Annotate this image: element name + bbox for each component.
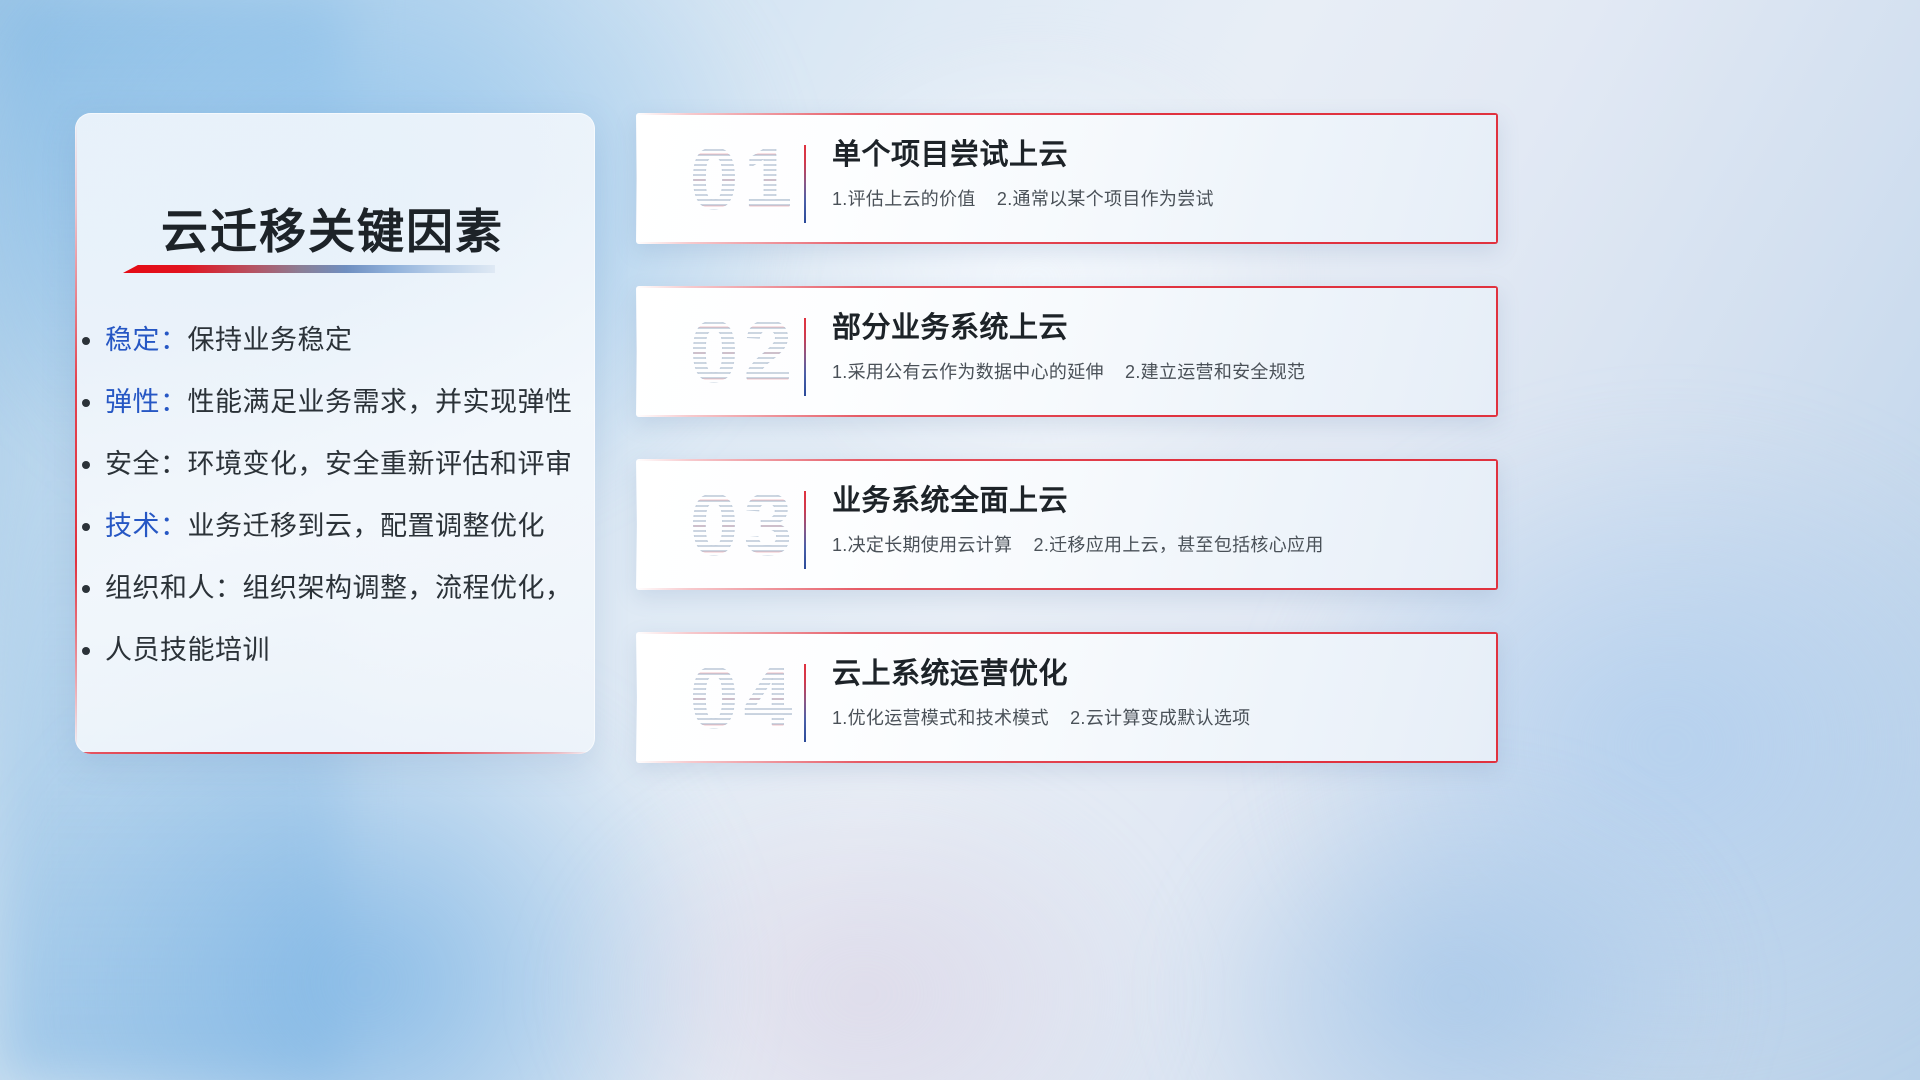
card-description: 1.优化运营模式和技术模式 2.云计算变成默认选项 (832, 705, 1470, 731)
factor-label: 技术： (105, 511, 188, 541)
card-left-edge (636, 286, 637, 417)
card-right-accent-border (1496, 459, 1498, 590)
card-left-edge (636, 632, 637, 763)
card-title: 业务系统全面上云 (832, 481, 1470, 521)
card-bottom-accent-border (636, 761, 1498, 763)
card-bottom-accent-border (636, 242, 1498, 244)
page-title: 云迁移关键因素 (161, 193, 504, 262)
card-divider-line (804, 145, 806, 223)
factor-label: 组织和人： (105, 573, 243, 603)
card-step-number-tint: 02 (654, 292, 834, 412)
card-divider-line (804, 491, 806, 569)
factor-label: 弹性： (105, 387, 188, 417)
card-top-accent-border (636, 632, 1498, 634)
factor-row: 弹性：性能满足业务需求，并实现弹性 (105, 371, 575, 433)
factor-description: 人员技能培训 (105, 635, 270, 665)
card-bottom-accent-border (636, 588, 1498, 590)
card-divider-line (804, 664, 806, 742)
card-title: 云上系统运营优化 (832, 654, 1470, 694)
card-body: 单个项目尝试上云1.评估上云的价值 2.通常以某个项目作为尝试 (832, 135, 1470, 212)
stage-card[interactable]: 0303业务系统全面上云1.决定长期使用云计算 2.迁移应用上云，甚至包括核心应… (636, 459, 1498, 590)
factor-row: 人员技能培训 (105, 619, 575, 681)
card-body: 部分业务系统上云1.采用公有云作为数据中心的延伸 2.建立运营和安全规范 (832, 308, 1470, 385)
factor-description: 业务迁移到云，配置调整优化 (188, 511, 546, 541)
card-body: 业务系统全面上云1.决定长期使用云计算 2.迁移应用上云，甚至包括核心应用 (832, 481, 1470, 558)
panel-bottom-accent-border (75, 752, 595, 754)
factor-row: 组织和人：组织架构调整，流程优化， (105, 557, 575, 619)
stage-card[interactable]: 0404云上系统运营优化1.优化运营模式和技术模式 2.云计算变成默认选项 (636, 632, 1498, 763)
factor-description: 环境变化，安全重新评估和评审 (188, 449, 573, 479)
stage-cards-list: 0101单个项目尝试上云1.评估上云的价值 2.通常以某个项目作为尝试0202部… (636, 113, 1498, 805)
card-step-number-tint: 01 (654, 119, 834, 239)
stage-card[interactable]: 0101单个项目尝试上云1.评估上云的价值 2.通常以某个项目作为尝试 (636, 113, 1498, 244)
card-left-edge (636, 459, 637, 590)
card-step-number-tint: 04 (654, 638, 834, 758)
factor-label: 稳定： (105, 325, 188, 355)
card-bottom-accent-border (636, 415, 1498, 417)
factor-row: 技术：业务迁移到云，配置调整优化 (105, 495, 575, 557)
card-step-number-tint: 03 (654, 465, 834, 585)
card-right-accent-border (1496, 113, 1498, 244)
key-factors-list: 稳定：保持业务稳定弹性：性能满足业务需求，并实现弹性安全：环境变化，安全重新评估… (105, 309, 575, 681)
card-title: 单个项目尝试上云 (832, 135, 1470, 175)
card-top-accent-border (636, 459, 1498, 461)
factor-row: 稳定：保持业务稳定 (105, 309, 575, 371)
card-description: 1.采用公有云作为数据中心的延伸 2.建立运营和安全规范 (832, 359, 1470, 385)
card-right-accent-border (1496, 286, 1498, 417)
card-description: 1.决定长期使用云计算 2.迁移应用上云，甚至包括核心应用 (832, 532, 1470, 558)
card-top-accent-border (636, 113, 1498, 115)
card-divider-line (804, 318, 806, 396)
factor-label: 安全： (105, 449, 188, 479)
stage-card[interactable]: 0202部分业务系统上云1.采用公有云作为数据中心的延伸 2.建立运营和安全规范 (636, 286, 1498, 417)
key-factors-panel: 云迁移关键因素 稳定：保持业务稳定弹性：性能满足业务需求，并实现弹性安全：环境变… (75, 113, 595, 754)
factor-description: 组织架构调整，流程优化， (243, 573, 573, 603)
title-underline-gradient (123, 265, 495, 273)
factor-row: 安全：环境变化，安全重新评估和评审 (105, 433, 575, 495)
card-title: 部分业务系统上云 (832, 308, 1470, 348)
card-body: 云上系统运营优化1.优化运营模式和技术模式 2.云计算变成默认选项 (832, 654, 1470, 731)
panel-left-accent-border (75, 113, 77, 754)
card-right-accent-border (1496, 632, 1498, 763)
card-description: 1.评估上云的价值 2.通常以某个项目作为尝试 (832, 186, 1470, 212)
card-left-edge (636, 113, 637, 244)
factor-description: 保持业务稳定 (188, 325, 353, 355)
slide-stage: 云迁移关键因素 稳定：保持业务稳定弹性：性能满足业务需求，并实现弹性安全：环境变… (0, 0, 1920, 1080)
card-top-accent-border (636, 286, 1498, 288)
factor-description: 性能满足业务需求，并实现弹性 (188, 387, 573, 417)
